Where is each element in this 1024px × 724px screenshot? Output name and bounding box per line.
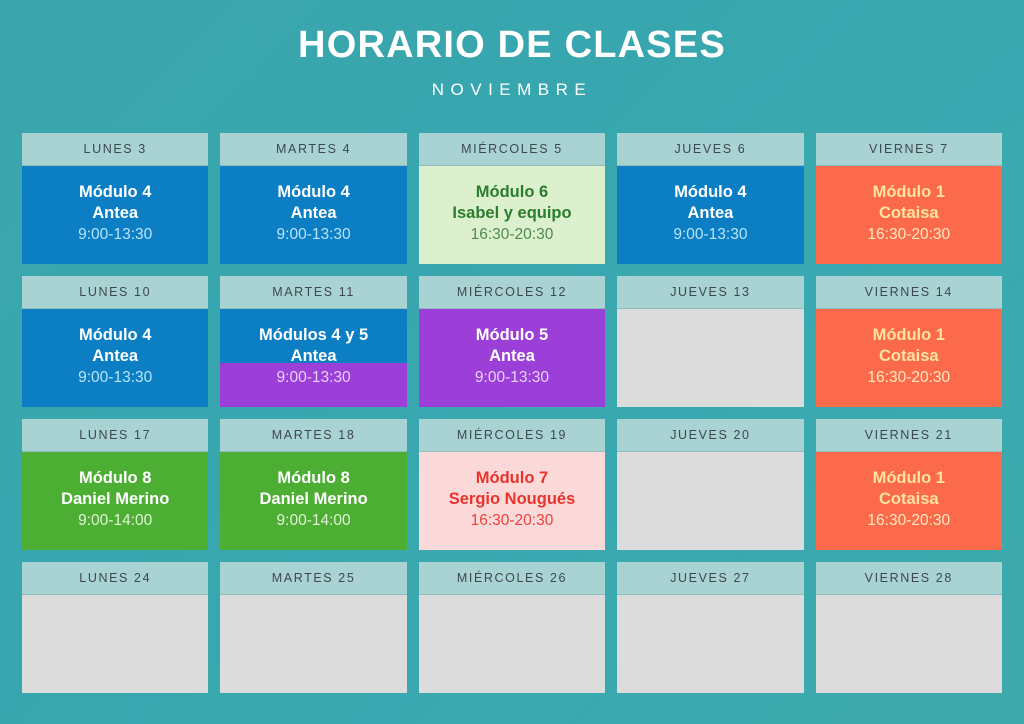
day-cell[interactable]: LUNES 17Módulo 8Daniel Merino9:00-14:00 xyxy=(22,419,208,550)
day-cell[interactable]: MIÉRCOLES 5Módulo 6Isabel y equipo16:30-… xyxy=(419,133,605,264)
day-body-empty[interactable] xyxy=(22,595,208,693)
event-module: Módulo 1 xyxy=(873,325,945,346)
event-module: Módulos 4 y 5 xyxy=(259,325,368,346)
day-event[interactable]: Módulo 8Daniel Merino9:00-14:00 xyxy=(22,452,208,550)
day-header: VIERNES 28 xyxy=(816,562,1002,595)
day-header: JUEVES 27 xyxy=(617,562,803,595)
day-event[interactable]: Módulo 4Antea9:00-13:30 xyxy=(617,166,803,264)
day-header: LUNES 17 xyxy=(22,419,208,452)
day-header: VIERNES 21 xyxy=(816,419,1002,452)
day-cell[interactable]: VIERNES 7Módulo 1Cotaisa16:30-20:30 xyxy=(816,133,1002,264)
event-person: Cotaisa xyxy=(879,346,939,367)
day-header: JUEVES 6 xyxy=(617,133,803,166)
event-module: Módulo 1 xyxy=(873,468,945,489)
event-person: Daniel Merino xyxy=(61,489,169,510)
event-time: 9:00-13:30 xyxy=(78,225,152,245)
day-event[interactable]: Módulo 5Antea9:00-13:30 xyxy=(419,309,605,407)
event-person: Cotaisa xyxy=(879,489,939,510)
event-module: Módulo 8 xyxy=(79,468,151,489)
event-time: 16:30-20:30 xyxy=(867,368,950,388)
event-person: Daniel Merino xyxy=(260,489,368,510)
event-time: 9:00-13:30 xyxy=(78,368,152,388)
event-module: Módulo 4 xyxy=(79,325,151,346)
event-person: Antea xyxy=(489,346,535,367)
day-header: MARTES 11 xyxy=(220,276,406,309)
day-cell[interactable]: LUNES 3Módulo 4Antea9:00-13:30 xyxy=(22,133,208,264)
day-body-empty[interactable] xyxy=(617,309,803,407)
page-title: HORARIO DE CLASES xyxy=(0,26,1024,66)
day-body-empty[interactable] xyxy=(617,452,803,550)
day-cell[interactable]: LUNES 24 xyxy=(22,562,208,693)
event-module: Módulo 6 xyxy=(476,182,548,203)
day-cell[interactable]: LUNES 10Módulo 4Antea9:00-13:30 xyxy=(22,276,208,407)
event-time: 9:00-14:00 xyxy=(277,511,351,531)
day-cell[interactable]: JUEVES 13 xyxy=(617,276,803,407)
day-cell[interactable]: MIÉRCOLES 26 xyxy=(419,562,605,693)
day-header: MARTES 4 xyxy=(220,133,406,166)
day-header: MARTES 25 xyxy=(220,562,406,595)
day-cell[interactable]: VIERNES 28 xyxy=(816,562,1002,693)
day-header: JUEVES 13 xyxy=(617,276,803,309)
day-event[interactable]: Módulo 1Cotaisa16:30-20:30 xyxy=(816,452,1002,550)
day-body-empty[interactable] xyxy=(419,595,605,693)
day-cell[interactable]: MARTES 18Módulo 8Daniel Merino9:00-14:00 xyxy=(220,419,406,550)
day-cell[interactable]: VIERNES 14Módulo 1Cotaisa16:30-20:30 xyxy=(816,276,1002,407)
day-cell[interactable]: JUEVES 20 xyxy=(617,419,803,550)
day-header: VIERNES 14 xyxy=(816,276,1002,309)
day-header: MIÉRCOLES 5 xyxy=(419,133,605,166)
day-cell[interactable]: JUEVES 6Módulo 4Antea9:00-13:30 xyxy=(617,133,803,264)
day-header: LUNES 10 xyxy=(22,276,208,309)
event-module: Módulo 5 xyxy=(476,325,548,346)
event-person: Antea xyxy=(92,203,138,224)
day-cell[interactable]: MIÉRCOLES 19Módulo 7Sergio Nougués16:30-… xyxy=(419,419,605,550)
event-module: Módulo 4 xyxy=(79,182,151,203)
event-time: 9:00-13:30 xyxy=(277,368,351,388)
day-event[interactable]: Módulo 1Cotaisa16:30-20:30 xyxy=(816,166,1002,264)
day-header: MARTES 18 xyxy=(220,419,406,452)
event-module: Módulo 1 xyxy=(873,182,945,203)
event-time: 9:00-13:30 xyxy=(673,225,747,245)
event-module: Módulo 4 xyxy=(277,182,349,203)
event-time: 16:30-20:30 xyxy=(471,225,554,245)
day-body-empty[interactable] xyxy=(816,595,1002,693)
event-time: 9:00-14:00 xyxy=(78,511,152,531)
day-header: MIÉRCOLES 12 xyxy=(419,276,605,309)
event-time: 16:30-20:30 xyxy=(867,511,950,531)
day-cell[interactable]: VIERNES 21Módulo 1Cotaisa16:30-20:30 xyxy=(816,419,1002,550)
title-block: HORARIO DE CLASES NOVIEMBRE xyxy=(0,0,1024,100)
day-event[interactable]: Módulo 4Antea9:00-13:30 xyxy=(22,166,208,264)
day-body-empty[interactable] xyxy=(617,595,803,693)
day-event[interactable]: Módulo 8Daniel Merino9:00-14:00 xyxy=(220,452,406,550)
day-header: VIERNES 7 xyxy=(816,133,1002,166)
event-time: 9:00-13:30 xyxy=(475,368,549,388)
day-event[interactable]: Módulo 4Antea9:00-13:30 xyxy=(22,309,208,407)
event-person: Cotaisa xyxy=(879,203,939,224)
day-event[interactable]: Módulo 7Sergio Nougués16:30-20:30 xyxy=(419,452,605,550)
event-person: Antea xyxy=(291,203,337,224)
day-cell[interactable]: JUEVES 27 xyxy=(617,562,803,693)
event-person: Antea xyxy=(687,203,733,224)
day-cell[interactable]: MARTES 25 xyxy=(220,562,406,693)
event-module: Módulo 4 xyxy=(674,182,746,203)
day-cell[interactable]: MIÉRCOLES 12Módulo 5Antea9:00-13:30 xyxy=(419,276,605,407)
day-cell[interactable]: MARTES 4Módulo 4Antea9:00-13:30 xyxy=(220,133,406,264)
event-time: 9:00-13:30 xyxy=(277,225,351,245)
page-subtitle: NOVIEMBRE xyxy=(0,80,1024,100)
day-event[interactable]: Módulo 4Antea9:00-13:30 xyxy=(220,166,406,264)
day-event[interactable]: Módulos 4 y 5Antea9:00-13:30 xyxy=(220,309,406,407)
day-header: JUEVES 20 xyxy=(617,419,803,452)
event-module: Módulo 8 xyxy=(277,468,349,489)
event-person: Isabel y equipo xyxy=(452,203,571,224)
day-header: MIÉRCOLES 19 xyxy=(419,419,605,452)
day-header: LUNES 3 xyxy=(22,133,208,166)
day-event[interactable]: Módulo 6Isabel y equipo16:30-20:30 xyxy=(419,166,605,264)
day-header: LUNES 24 xyxy=(22,562,208,595)
event-person: Antea xyxy=(92,346,138,367)
day-cell[interactable]: MARTES 11Módulos 4 y 5Antea9:00-13:30 xyxy=(220,276,406,407)
calendar-grid: LUNES 3Módulo 4Antea9:00-13:30MARTES 4Mó… xyxy=(22,133,1002,693)
event-time: 16:30-20:30 xyxy=(867,225,950,245)
day-body-empty[interactable] xyxy=(220,595,406,693)
event-time: 16:30-20:30 xyxy=(471,511,554,531)
event-person: Sergio Nougués xyxy=(449,489,576,510)
day-event[interactable]: Módulo 1Cotaisa16:30-20:30 xyxy=(816,309,1002,407)
event-module: Módulo 7 xyxy=(476,468,548,489)
event-person: Antea xyxy=(291,346,337,367)
day-header: MIÉRCOLES 26 xyxy=(419,562,605,595)
